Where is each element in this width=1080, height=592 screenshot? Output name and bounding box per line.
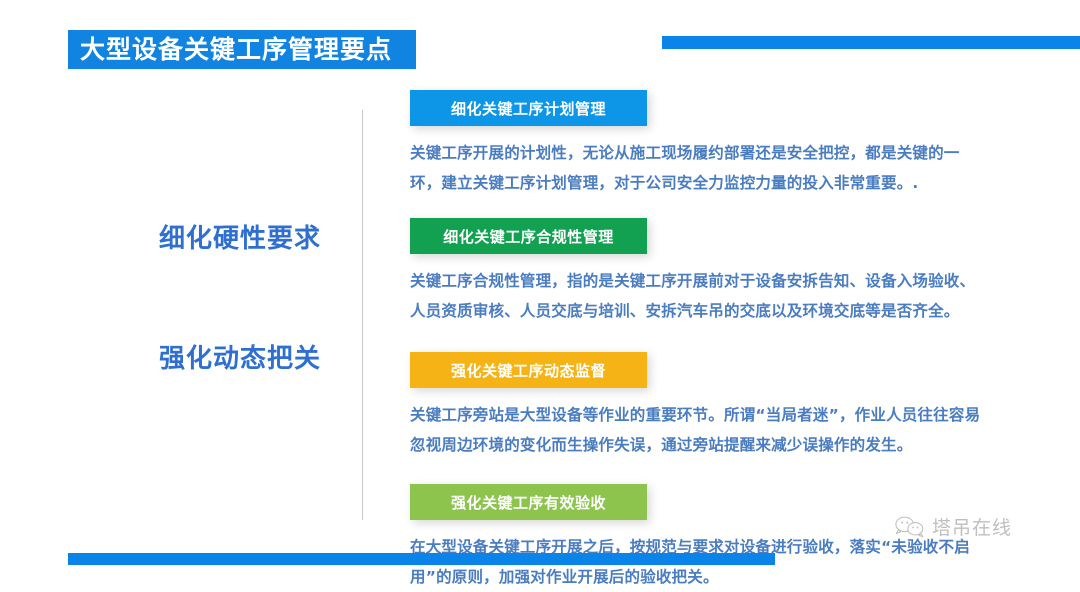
block-badge-dynamic-supervision: 强化关键工序动态监督 [410, 352, 647, 388]
block-badge-label: 强化关键工序有效验收 [451, 492, 606, 513]
block-body-dynamic-supervision: 关键工序旁站是大型设备等作业的重要环节。所谓“当局者迷”，作业人员往往容易忽视周… [410, 400, 985, 460]
block-badge-label: 强化关键工序动态监督 [451, 360, 606, 381]
block-body-compliance-management: 关键工序合规性管理，指的是关键工序开展前对于设备安拆告知、设备入场验收、人员资质… [410, 266, 985, 326]
block-badge-label: 细化关键工序计划管理 [451, 98, 606, 119]
page-title: 大型设备关键工序管理要点 [80, 37, 392, 62]
block-badge-plan-management: 细化关键工序计划管理 [410, 90, 647, 126]
vertical-divider [362, 110, 363, 520]
block-badge-label: 细化关键工序合规性管理 [443, 226, 614, 247]
content-block-dynamic-supervision: 强化关键工序动态监督 关键工序旁站是大型设备等作业的重要环节。所谓“当局者迷”，… [410, 352, 1010, 460]
block-body-plan-management: 关键工序开展的计划性，无论从施工现场履约部署还是安全把控，都是关键的一环，建立关… [410, 138, 985, 198]
bottom-accent-bar [68, 553, 775, 565]
watermark-text: 塔吊在线 [932, 513, 1012, 540]
content-block-compliance-management: 细化关键工序合规性管理 关键工序合规性管理，指的是关键工序开展前对于设备安拆告知… [410, 218, 1010, 326]
wechat-bubbles-icon [895, 515, 925, 539]
block-badge-effective-acceptance: 强化关键工序有效验收 [410, 484, 647, 520]
page-title-banner: 大型设备关键工序管理要点 [68, 30, 416, 69]
section-label-dynamic-control: 强化动态把关 [120, 338, 360, 375]
content-block-plan-management: 细化关键工序计划管理 关键工序开展的计划性，无论从施工现场履约部署还是安全把控，… [410, 90, 1010, 198]
section-label-hard-requirements: 细化硬性要求 [120, 218, 360, 255]
block-badge-compliance-management: 细化关键工序合规性管理 [410, 218, 647, 254]
top-accent-bar [662, 36, 1080, 49]
watermark: 塔吊在线 [895, 513, 1012, 540]
left-section-labels: 细化硬性要求 强化动态把关 [120, 100, 360, 530]
